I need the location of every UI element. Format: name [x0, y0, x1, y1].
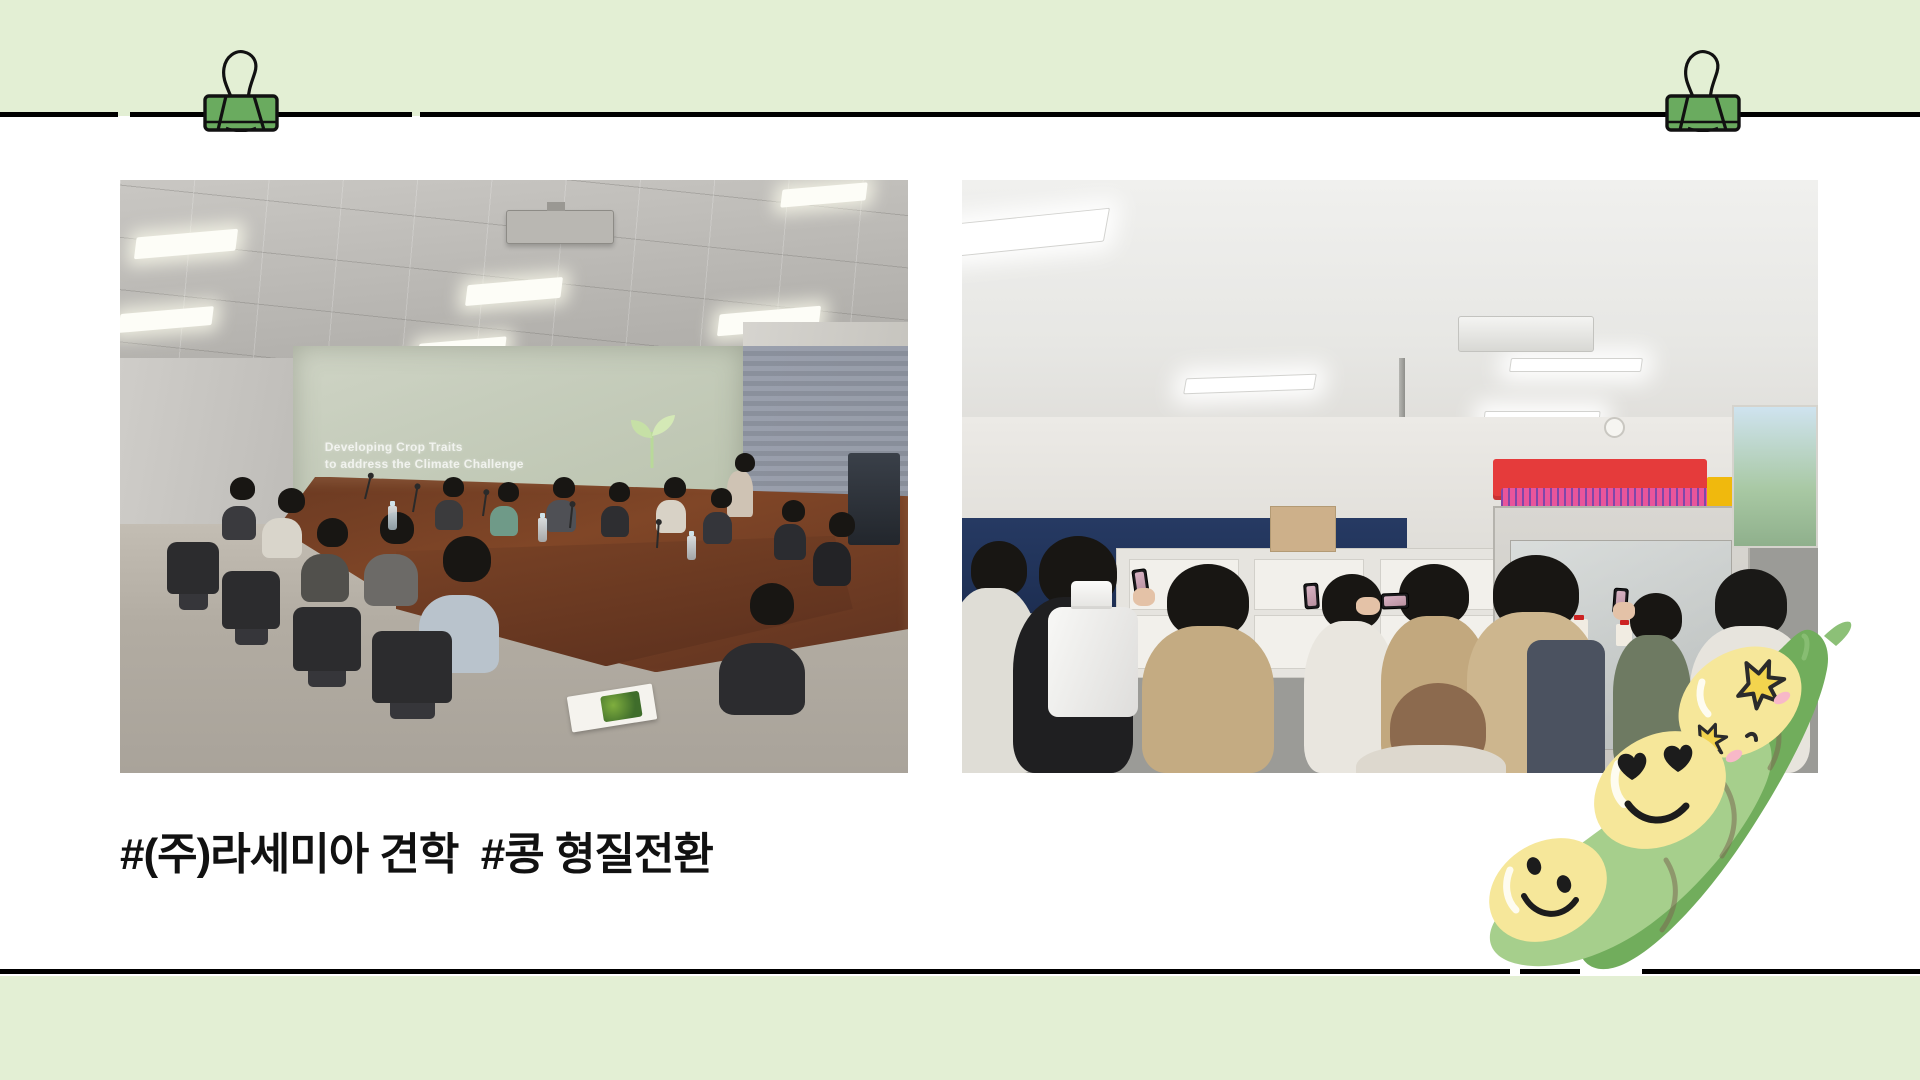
bottom-green-band [0, 976, 1920, 1080]
attendee-body [656, 500, 686, 533]
office-chair [167, 542, 219, 594]
water-jug [1048, 607, 1138, 717]
water-bottle [687, 536, 696, 560]
office-chair [293, 607, 361, 671]
lab-window [1732, 405, 1818, 547]
smartphone [1304, 583, 1321, 610]
attendee-head [750, 583, 794, 625]
bottom-rule-segment-3 [1642, 969, 1920, 974]
attendee-body [262, 518, 302, 558]
slide-caption: #(주)라세미아 견학 #콩 형질전환 [120, 818, 713, 882]
hand [1133, 588, 1155, 606]
attendee-body [719, 643, 805, 715]
office-chair [372, 631, 452, 703]
attendee-body [364, 554, 418, 606]
slide-canvas: Developing Crop Traits to address the Cl… [0, 0, 1920, 1080]
attendee-body [601, 506, 629, 537]
water-bottle [388, 506, 397, 530]
ceiling-lamp [1509, 358, 1643, 372]
attendee-body [703, 512, 732, 544]
attendee-head [829, 512, 855, 537]
attendee-head [443, 477, 464, 497]
attendee-head [664, 477, 686, 498]
attendee-head [230, 477, 255, 500]
attendee-body [774, 524, 806, 560]
bottom-rule-segment-1 [0, 969, 1510, 974]
attendee-head [380, 512, 414, 544]
presenter-head [735, 453, 755, 472]
top-rule-segment-1 [0, 112, 118, 117]
attendee-body [222, 506, 256, 540]
binder-clip-right [1658, 40, 1748, 132]
office-chair [222, 571, 280, 629]
bottom-rule-segment-2 [1520, 969, 1580, 974]
binder-clip-left [196, 40, 286, 132]
attendee-head [609, 482, 630, 502]
hand [1356, 597, 1380, 615]
top-green-band [0, 0, 1920, 116]
ceiling-air-conditioner [1458, 316, 1594, 352]
attendee-body [490, 506, 518, 536]
attendee-head [278, 488, 305, 513]
av-equipment-rack [848, 453, 900, 545]
attendee-head [498, 482, 519, 502]
attendee-body [813, 542, 851, 586]
attendee-head [443, 536, 491, 582]
sprout-graphic [615, 398, 689, 472]
soybean-pod-sticker [1452, 608, 1872, 988]
attendee-head [782, 500, 805, 522]
attendee-head [317, 518, 348, 547]
attendee-body [301, 554, 349, 602]
student-body [1142, 626, 1274, 773]
seminar-room-photo: Developing Crop Traits to address the Cl… [120, 180, 908, 773]
attendee-head [711, 488, 732, 508]
ceiling-projector [506, 210, 614, 244]
slide-title-text: Developing Crop Traits to address the Cl… [325, 439, 524, 474]
attendee-body [435, 500, 463, 530]
attendee-head [553, 477, 575, 498]
smartphone [1381, 592, 1410, 609]
water-bottle [538, 518, 547, 542]
